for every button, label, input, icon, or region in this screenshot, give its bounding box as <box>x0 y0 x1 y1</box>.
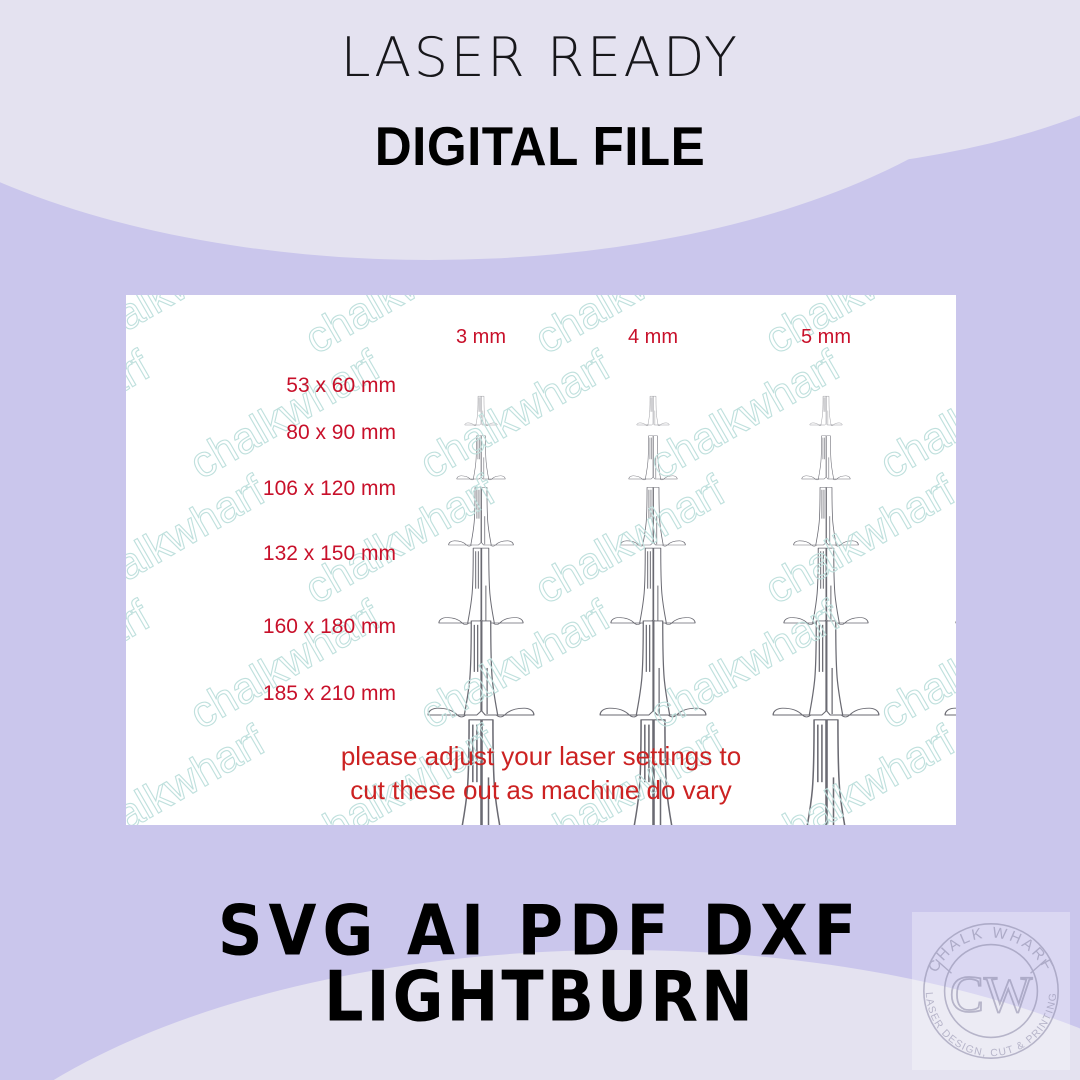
product-size-chart-card: chalkwharfchalkwharfchalkwharfchalkwharf… <box>126 295 956 825</box>
page-subtitle-digital-file: DIGITAL FILE <box>38 114 1042 178</box>
thickness-header-4mm: 4 mm <box>628 326 678 348</box>
chalk-wharf-logo: CHALK WHARF CW LASER DESIGN, CUT & PRINT… <box>912 912 1070 1070</box>
size-label-row-4: 132 x 150 mm <box>263 542 396 565</box>
thickness-header-5mm: 5 mm <box>801 326 851 348</box>
size-label-row-1: 53 x 60 mm <box>286 374 396 397</box>
size-label-row-5: 160 x 180 mm <box>263 615 396 638</box>
size-chart-canvas: chalkwharfchalkwharfchalkwharfchalkwharf… <box>126 295 956 825</box>
size-label-row-3: 106 x 120 mm <box>263 477 396 500</box>
laser-note-line-2: cut these out as machine do vary <box>350 775 732 805</box>
laser-note-line-1: please adjust your laser settings to <box>341 741 741 771</box>
size-label-row-2: 80 x 90 mm <box>286 421 396 444</box>
size-label-row-6: 185 x 210 mm <box>263 682 396 705</box>
page-title-laser-ready: LASER READY <box>0 26 1080 89</box>
thickness-header-3mm: 3 mm <box>456 326 506 348</box>
logo-monogram: CW <box>950 967 1033 1024</box>
